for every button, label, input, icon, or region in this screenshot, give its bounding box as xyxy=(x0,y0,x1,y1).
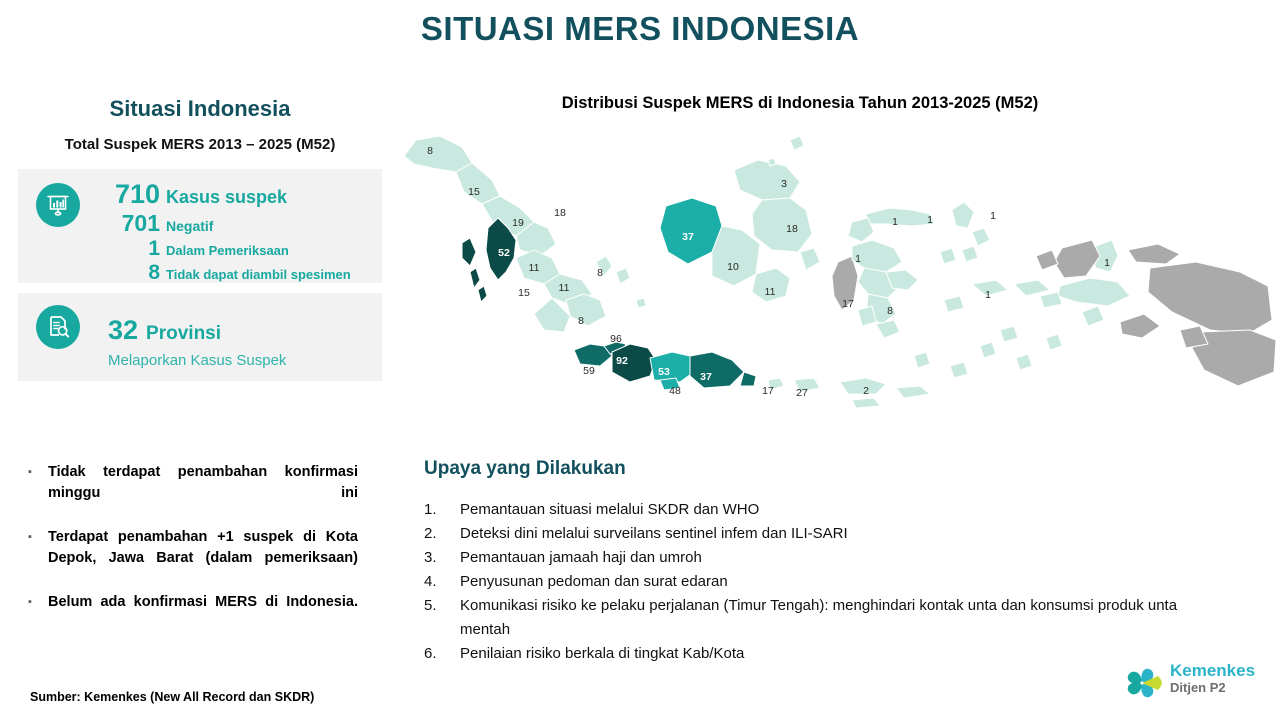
page-title: SITUASI MERS INDONESIA xyxy=(0,10,1280,48)
item-text: Komunikasi risiko ke pelaku perjalanan (… xyxy=(460,594,1208,642)
logo-text: Kemenkes Ditjen P2 xyxy=(1170,661,1255,696)
map-region xyxy=(734,160,800,200)
province-rows: 32 Provinsi Melaporkan Kasus Suspek xyxy=(108,303,374,369)
item-number: 6. xyxy=(418,642,460,666)
map-region xyxy=(1148,262,1272,334)
list-item: 2. Deteksi dini melalui surveilans senti… xyxy=(418,522,1208,546)
presentation-chart-icon xyxy=(36,183,80,227)
map-region xyxy=(1120,314,1160,338)
map-region xyxy=(1058,278,1130,306)
map-region xyxy=(752,268,790,302)
map-region xyxy=(752,198,812,252)
list-item: 1. Pemantauan situasi melalui SKDR dan W… xyxy=(418,498,1208,522)
province-label: Provinsi xyxy=(146,323,221,345)
logo-subtitle: Ditjen P2 xyxy=(1170,680,1255,696)
indonesia-choropleth-map: 8151918521181511896925953483717272318371… xyxy=(398,120,1280,450)
map-region xyxy=(840,378,886,394)
source-note: Sumber: Kemenkes (New All Record dan SKD… xyxy=(30,690,314,704)
bullet-text: Tidak terdapat penambahan konfirmasi min… xyxy=(48,462,358,525)
cases-rows: 710 Kasus suspek 701 Negatif 1 Dalam Pem… xyxy=(98,179,374,285)
map-region xyxy=(1082,306,1104,326)
province-summary-card: 32 Provinsi Melaporkan Kasus Suspek xyxy=(18,293,382,381)
list-item: ▪ Terdapat penambahan +1 suspek di Kota … xyxy=(28,527,358,590)
list-item: ▪ Belum ada konfirmasi MERS di Indonesia… xyxy=(28,592,358,634)
logo-name: Kemenkes xyxy=(1170,661,1255,680)
left-panel-heading: Situasi Indonesia xyxy=(0,96,400,122)
map-region xyxy=(636,298,646,308)
list-item: 5. Komunikasi risiko ke pelaku perjalana… xyxy=(418,594,1208,642)
map-region xyxy=(972,280,1008,296)
item-text: Pemantauan jamaah haji dan umroh xyxy=(460,546,1208,570)
item-number: 5. xyxy=(418,594,460,642)
item-text: Pemantauan situasi melalui SKDR dan WHO xyxy=(460,498,1208,522)
bullet-square-icon: ▪ xyxy=(28,592,48,634)
map-region xyxy=(1054,240,1100,278)
map-region xyxy=(944,296,964,312)
map-region xyxy=(1000,326,1018,342)
item-text: Penilaian risiko berkala di tingkat Kab/… xyxy=(460,642,1208,666)
map-region xyxy=(690,352,744,388)
stat-value-negative: 701 xyxy=(98,210,160,237)
stat-label-in-examination: Dalam Pemeriksaan xyxy=(166,243,289,258)
map-region xyxy=(470,268,480,288)
map-region xyxy=(852,398,880,408)
map-region xyxy=(950,362,968,378)
map-region xyxy=(914,352,930,368)
map-region xyxy=(832,256,858,310)
cases-summary-card: 710 Kasus suspek 701 Negatif 1 Dalam Pem… xyxy=(18,169,382,283)
map-region xyxy=(456,163,500,204)
map-region xyxy=(940,248,956,264)
map-region xyxy=(1128,244,1180,264)
map-region xyxy=(800,248,820,270)
item-number: 3. xyxy=(418,546,460,570)
stat-label-no-specimen: Tidak dapat diambil spesimen xyxy=(166,267,351,282)
map-region xyxy=(972,228,990,246)
item-text: Penyusunan pedoman dan surat edaran xyxy=(460,570,1208,594)
map-region xyxy=(660,378,680,390)
key-points-list: ▪ Tidak terdapat penambahan konfirmasi m… xyxy=(28,462,358,636)
map-region xyxy=(962,246,978,262)
map-region xyxy=(1014,280,1050,296)
item-number: 2. xyxy=(418,522,460,546)
kemenkes-logo: Kemenkes Ditjen P2 xyxy=(1112,655,1272,711)
left-panel: Situasi Indonesia Total Suspek MERS 2013… xyxy=(0,96,400,381)
bullet-square-icon: ▪ xyxy=(28,462,48,525)
list-item: 4. Penyusunan pedoman dan surat edaran xyxy=(418,570,1208,594)
map-region xyxy=(1036,250,1058,270)
item-number: 4. xyxy=(418,570,460,594)
stat-label-negative: Negatif xyxy=(166,218,213,234)
map-region xyxy=(768,158,776,166)
item-text: Deteksi dini melalui surveilans sentinel… xyxy=(460,522,1208,546)
map-region xyxy=(866,208,934,226)
stat-value-no-specimen: 8 xyxy=(98,261,160,285)
map-region xyxy=(794,378,820,392)
map-region xyxy=(1040,292,1062,308)
bullet-text: Terdapat penambahan +1 suspek di Kota De… xyxy=(48,527,358,590)
document-search-icon xyxy=(36,305,80,349)
bullet-square-icon: ▪ xyxy=(28,527,48,590)
list-item: 3. Pemantauan jamaah haji dan umroh xyxy=(418,546,1208,570)
efforts-list: 1. Pemantauan situasi melalui SKDR dan W… xyxy=(418,498,1208,666)
map-region xyxy=(876,320,900,338)
map-region xyxy=(952,202,974,228)
stat-row-no-specimen: 8 Tidak dapat diambil spesimen xyxy=(98,261,374,285)
efforts-heading: Upaya yang Dilakukan xyxy=(424,458,626,480)
map-region xyxy=(650,352,694,382)
map-region xyxy=(1046,334,1062,350)
map-region xyxy=(852,240,902,272)
map-region xyxy=(896,386,930,398)
map-region xyxy=(566,294,606,326)
map-region xyxy=(612,344,656,382)
province-subtitle: Melaporkan Kasus Suspek xyxy=(108,352,374,369)
pinwheel-logo-icon xyxy=(1118,659,1166,707)
left-panel-subheading: Total Suspek MERS 2013 – 2025 (M52) xyxy=(0,136,400,153)
map-region xyxy=(768,378,784,390)
map-region xyxy=(462,238,476,266)
stat-value-total: 710 xyxy=(98,179,160,210)
map-title: Distribusi Suspek MERS di Indonesia Tahu… xyxy=(400,94,1200,113)
map-region xyxy=(404,136,472,172)
stat-row-in-examination: 1 Dalam Pemeriksaan xyxy=(98,237,374,261)
map-region xyxy=(980,342,996,358)
map-shapes xyxy=(404,136,1276,408)
province-main-row: 32 Provinsi xyxy=(108,315,374,346)
bullet-text: Belum ada konfirmasi MERS di Indonesia. xyxy=(48,592,358,634)
list-item: ▪ Tidak terdapat penambahan konfirmasi m… xyxy=(28,462,358,525)
map-region xyxy=(1016,354,1032,370)
map-region xyxy=(790,136,804,150)
stat-value-in-examination: 1 xyxy=(98,237,160,261)
map-region xyxy=(1180,326,1208,348)
stat-row-negative: 701 Negatif xyxy=(98,210,374,237)
map-region xyxy=(616,268,630,284)
list-item: 6. Penilaian risiko berkala di tingkat K… xyxy=(418,642,1208,666)
map-region xyxy=(478,286,487,302)
map-region xyxy=(712,226,760,286)
province-count: 32 xyxy=(108,315,138,346)
item-number: 1. xyxy=(418,498,460,522)
stat-row-total: 710 Kasus suspek xyxy=(98,179,374,210)
stat-label-total: Kasus suspek xyxy=(166,187,287,208)
map-region xyxy=(596,256,612,276)
